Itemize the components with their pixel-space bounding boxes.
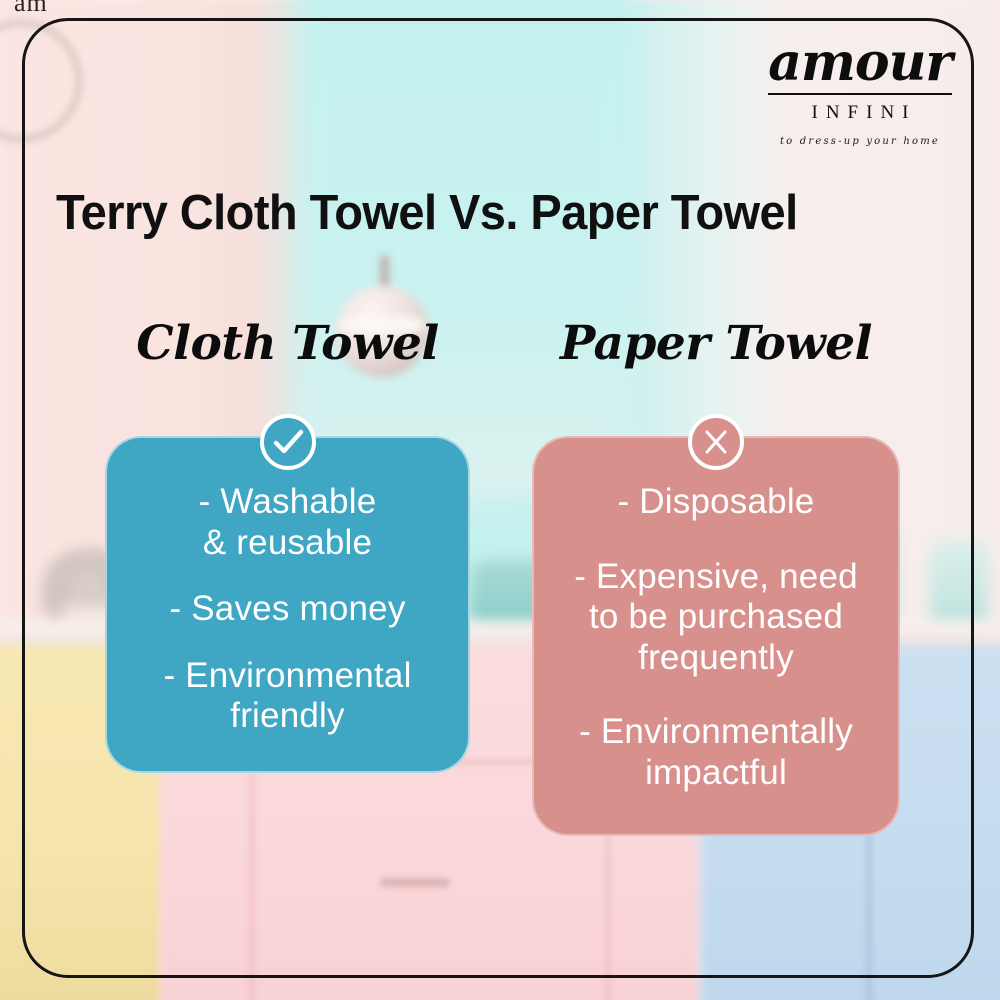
paper-drawback-list: - Disposable - Expensive, need to be pur… xyxy=(552,482,880,794)
column-cloth-towel: Cloth Towel - Washable & reusable - Save… xyxy=(105,320,470,773)
page-title: Terry Cloth Towel Vs. Paper Towel xyxy=(56,185,798,241)
drawback-line: - Disposable xyxy=(618,482,815,521)
list-item: - Saves money xyxy=(125,589,450,630)
benefit-line: - Washable xyxy=(199,482,377,521)
brand-divider xyxy=(768,93,952,95)
card-cloth-towel: - Washable & reusable - Saves money - En… xyxy=(105,436,470,773)
benefit-line: & reusable xyxy=(203,523,372,562)
cloth-benefit-list: - Washable & reusable - Saves money - En… xyxy=(125,482,450,737)
benefit-line: - Saves money xyxy=(169,589,405,628)
cropped-text-sliver: am xyxy=(14,0,48,18)
brand-script-name: amour xyxy=(754,38,966,87)
brand-logo: amour INFINI to dress-up your home xyxy=(754,38,966,147)
list-item: - Washable & reusable xyxy=(125,482,450,563)
list-item: - Expensive, need to be purchased freque… xyxy=(552,557,880,679)
column-title-cloth: Cloth Towel xyxy=(105,320,470,382)
list-item: - Environmental friendly xyxy=(125,656,450,737)
cross-icon xyxy=(688,414,744,470)
infographic-canvas: am amour INFINI to dress-up your home Te… xyxy=(0,0,1000,1000)
benefit-line: friendly xyxy=(230,696,344,735)
benefit-line: - Environmental xyxy=(163,656,411,695)
drawback-line: - Environmentally xyxy=(579,712,853,751)
column-paper-towel: Paper Towel - Disposable - Expensive, ne… xyxy=(532,320,900,836)
background-drawer-seam xyxy=(250,762,254,1000)
drawback-line: frequently xyxy=(638,638,794,677)
background-teal-jar-small xyxy=(930,540,988,632)
drawback-line: - Expensive, need xyxy=(574,557,858,596)
drawback-line: to be purchased xyxy=(589,597,843,636)
brand-tagline: to dress-up your home xyxy=(754,136,966,147)
card-paper-towel: - Disposable - Expensive, need to be pur… xyxy=(532,436,900,836)
background-drawer-handle xyxy=(380,878,450,887)
brand-sub-name: INFINI xyxy=(754,102,966,124)
column-title-paper: Paper Towel xyxy=(532,320,900,382)
drawback-line: impactful xyxy=(645,753,787,792)
list-item: - Environmentally impactful xyxy=(552,712,880,793)
check-icon xyxy=(260,414,316,470)
list-item: - Disposable xyxy=(552,482,880,523)
